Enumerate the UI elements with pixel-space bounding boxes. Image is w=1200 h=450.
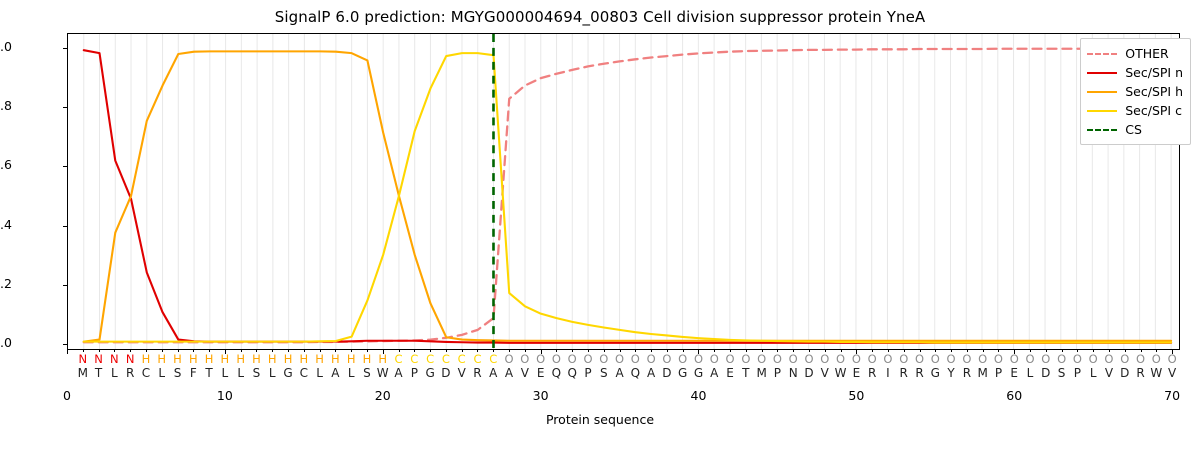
- sequence-residue: W: [375, 366, 391, 380]
- legend-label: OTHER: [1125, 46, 1168, 61]
- sequence-residue: G: [422, 366, 438, 380]
- region-annotation-C: C: [454, 352, 470, 366]
- sequence-residue: S: [248, 366, 264, 380]
- sequence-residue: Q: [627, 366, 643, 380]
- legend-item-cs[interactable]: CS: [1087, 120, 1183, 139]
- region-annotation-O: O: [1054, 352, 1070, 366]
- sequence-residue: V: [1101, 366, 1117, 380]
- region-annotation-O: O: [864, 352, 880, 366]
- region-annotation-C: C: [391, 352, 407, 366]
- sequence-residue: Q: [564, 366, 580, 380]
- sequence-residue: W: [833, 366, 849, 380]
- sequence-residue: A: [706, 366, 722, 380]
- x-tick-label: 0: [47, 388, 87, 403]
- sequence-residue: R: [469, 366, 485, 380]
- region-annotation-O: O: [548, 352, 564, 366]
- x-tick-label: 60: [994, 388, 1034, 403]
- region-annotation-O: O: [1133, 352, 1149, 366]
- region-annotation-O: O: [1117, 352, 1133, 366]
- y-tick-label: 0.2: [0, 276, 12, 291]
- region-annotation-O: O: [690, 352, 706, 366]
- sequence-residue: L: [343, 366, 359, 380]
- sequence-residue: D: [801, 366, 817, 380]
- sequence-residue: Y: [943, 366, 959, 380]
- region-annotation-O: O: [912, 352, 928, 366]
- plot-area: [67, 33, 1180, 350]
- sequence-residue: A: [485, 366, 501, 380]
- sequence-residue: L: [233, 366, 249, 380]
- legend-swatch-icon: [1087, 105, 1117, 117]
- sequence-residue: W: [1148, 366, 1164, 380]
- protein-sequence-row: MTLRCLSFTLLSLGCLALSWAPGDVRAAVEQQPSAQADGG…: [67, 366, 1180, 380]
- y-tick-label: 0.4: [0, 217, 12, 232]
- sequence-residue: A: [612, 366, 628, 380]
- region-annotation-O: O: [627, 352, 643, 366]
- sequence-residue: F: [185, 366, 201, 380]
- region-annotation-O: O: [769, 352, 785, 366]
- region-annotation-H: H: [312, 352, 328, 366]
- region-annotation-N: N: [106, 352, 122, 366]
- sequence-residue: S: [1054, 366, 1070, 380]
- series-line-sec-spi-h: [84, 51, 1171, 341]
- x-axis-label: Protein sequence: [0, 412, 1200, 427]
- x-tick-label: 30: [521, 388, 561, 403]
- sequence-residue: M: [75, 366, 91, 380]
- region-annotation-H: H: [154, 352, 170, 366]
- region-annotation-O: O: [990, 352, 1006, 366]
- x-tick-label: 50: [836, 388, 876, 403]
- sequence-residue: A: [391, 366, 407, 380]
- region-annotation-O: O: [612, 352, 628, 366]
- sequence-residue: N: [785, 366, 801, 380]
- legend-item-sec-spi-c[interactable]: Sec/SPI c: [1087, 101, 1183, 120]
- region-annotation-O: O: [533, 352, 549, 366]
- legend-label: Sec/SPI h: [1125, 84, 1183, 99]
- sequence-residue: E: [848, 366, 864, 380]
- sequence-residue: E: [722, 366, 738, 380]
- y-tick-label: 0.8: [0, 98, 12, 113]
- sequence-residue: G: [927, 366, 943, 380]
- sequence-residue: S: [596, 366, 612, 380]
- sequence-residue: T: [738, 366, 754, 380]
- sequence-residue: D: [1038, 366, 1054, 380]
- legend-swatch-icon: [1087, 48, 1117, 60]
- region-annotation-O: O: [643, 352, 659, 366]
- sequence-residue: C: [138, 366, 154, 380]
- region-annotation-O: O: [880, 352, 896, 366]
- sequence-residue: L: [1022, 366, 1038, 380]
- y-tick-label: 0.6: [0, 157, 12, 172]
- region-annotation-C: C: [422, 352, 438, 366]
- sequence-residue: L: [106, 366, 122, 380]
- sequence-residue: A: [643, 366, 659, 380]
- region-annotation-H: H: [138, 352, 154, 366]
- region-annotation-O: O: [1101, 352, 1117, 366]
- plot-svg: [68, 34, 1179, 349]
- region-annotation-H: H: [296, 352, 312, 366]
- legend-swatch-icon: [1087, 67, 1117, 79]
- region-annotation-O: O: [833, 352, 849, 366]
- chart-legend[interactable]: OTHERSec/SPI nSec/SPI hSec/SPI cCS: [1080, 38, 1191, 145]
- region-annotation-O: O: [1038, 352, 1054, 366]
- sequence-residue: P: [769, 366, 785, 380]
- sequence-residue: S: [170, 366, 186, 380]
- region-annotation-O: O: [848, 352, 864, 366]
- sequence-residue: P: [990, 366, 1006, 380]
- sequence-residue: A: [501, 366, 517, 380]
- region-annotation-O: O: [975, 352, 991, 366]
- y-tick-label: 1.0: [0, 39, 12, 54]
- region-annotation-O: O: [706, 352, 722, 366]
- sequence-residue: E: [533, 366, 549, 380]
- region-annotation-H: H: [248, 352, 264, 366]
- region-annotation-O: O: [1085, 352, 1101, 366]
- sequence-residue: P: [1069, 366, 1085, 380]
- legend-label: Sec/SPI n: [1125, 65, 1183, 80]
- region-annotation-N: N: [122, 352, 138, 366]
- legend-swatch-icon: [1087, 124, 1117, 136]
- region-annotation-O: O: [722, 352, 738, 366]
- sequence-residue: G: [690, 366, 706, 380]
- sequence-residue: R: [122, 366, 138, 380]
- sequence-residue: D: [438, 366, 454, 380]
- sequence-residue: R: [912, 366, 928, 380]
- region-annotation-O: O: [1148, 352, 1164, 366]
- region-annotation-O: O: [1022, 352, 1038, 366]
- sequence-residue: R: [959, 366, 975, 380]
- region-annotation-H: H: [327, 352, 343, 366]
- region-annotation-O: O: [580, 352, 596, 366]
- region-annotation-O: O: [738, 352, 754, 366]
- sequence-residue: V: [1164, 366, 1180, 380]
- region-annotation-H: H: [280, 352, 296, 366]
- region-annotation-H: H: [375, 352, 391, 366]
- region-annotation-O: O: [943, 352, 959, 366]
- region-annotation-O: O: [517, 352, 533, 366]
- region-annotation-H: H: [185, 352, 201, 366]
- region-annotation-O: O: [896, 352, 912, 366]
- sequence-residue: A: [327, 366, 343, 380]
- region-annotation-O: O: [1006, 352, 1022, 366]
- region-annotation-O: O: [564, 352, 580, 366]
- region-annotation-C: C: [406, 352, 422, 366]
- sequence-residue: M: [754, 366, 770, 380]
- sequence-residue: D: [659, 366, 675, 380]
- region-annotation-H: H: [201, 352, 217, 366]
- region-annotation-O: O: [801, 352, 817, 366]
- region-annotation-O: O: [1069, 352, 1085, 366]
- sequence-residue: L: [154, 366, 170, 380]
- region-annotation-H: H: [264, 352, 280, 366]
- series-line-other: [84, 49, 1171, 343]
- series-line-sec-spi-c: [84, 53, 1171, 342]
- region-annotation-H: H: [170, 352, 186, 366]
- x-tick-label: 10: [205, 388, 245, 403]
- region-annotation-H: H: [359, 352, 375, 366]
- sequence-residue: L: [1085, 366, 1101, 380]
- sequence-residue: L: [312, 366, 328, 380]
- region-annotation-C: C: [485, 352, 501, 366]
- region-annotation-N: N: [91, 352, 107, 366]
- sequence-residue: V: [454, 366, 470, 380]
- x-tick-label: 70: [1152, 388, 1192, 403]
- region-annotation-O: O: [959, 352, 975, 366]
- region-annotation-O: O: [596, 352, 612, 366]
- sequence-residue: G: [675, 366, 691, 380]
- sequence-residue: P: [406, 366, 422, 380]
- sequence-residue: Q: [548, 366, 564, 380]
- sequence-residue: M: [975, 366, 991, 380]
- sequence-residue: V: [817, 366, 833, 380]
- sequence-residue: R: [864, 366, 880, 380]
- legend-item-sec-spi-n[interactable]: Sec/SPI n: [1087, 63, 1183, 82]
- sequence-residue: E: [1006, 366, 1022, 380]
- region-annotation-row: NNNNHHHHHHHHHHHHHHHHCCCCCCCOOOOOOOOOOOOO…: [67, 352, 1180, 366]
- sequence-residue: L: [264, 366, 280, 380]
- region-annotation-O: O: [501, 352, 517, 366]
- legend-item-other[interactable]: OTHER: [1087, 44, 1183, 63]
- sequence-residue: D: [1117, 366, 1133, 380]
- signalp-prediction-figure: SignalP 6.0 prediction: MGYG000004694_00…: [0, 0, 1200, 450]
- region-annotation-H: H: [343, 352, 359, 366]
- sequence-residue: V: [517, 366, 533, 380]
- region-annotation-O: O: [817, 352, 833, 366]
- chart-title: SignalP 6.0 prediction: MGYG000004694_00…: [0, 8, 1200, 26]
- sequence-residue: C: [296, 366, 312, 380]
- region-annotation-O: O: [785, 352, 801, 366]
- region-annotation-H: H: [233, 352, 249, 366]
- region-annotation-C: C: [469, 352, 485, 366]
- sequence-residue: L: [217, 366, 233, 380]
- x-tick-label: 40: [678, 388, 718, 403]
- sequence-residue: S: [359, 366, 375, 380]
- sequence-residue: R: [896, 366, 912, 380]
- sequence-residue: G: [280, 366, 296, 380]
- region-annotation-C: C: [438, 352, 454, 366]
- sequence-residue: R: [1133, 366, 1149, 380]
- region-annotation-O: O: [927, 352, 943, 366]
- region-annotation-H: H: [217, 352, 233, 366]
- region-annotation-O: O: [754, 352, 770, 366]
- sequence-residue: T: [201, 366, 217, 380]
- y-tick-label: 0.0: [0, 335, 12, 350]
- sequence-residue: T: [91, 366, 107, 380]
- sequence-residue: I: [880, 366, 896, 380]
- x-tick-label: 20: [363, 388, 403, 403]
- region-annotation-O: O: [1164, 352, 1180, 366]
- legend-swatch-icon: [1087, 86, 1117, 98]
- legend-label: Sec/SPI c: [1125, 103, 1182, 118]
- region-annotation-O: O: [659, 352, 675, 366]
- legend-label: CS: [1125, 122, 1142, 137]
- region-annotation-O: O: [675, 352, 691, 366]
- legend-item-sec-spi-h[interactable]: Sec/SPI h: [1087, 82, 1183, 101]
- region-annotation-N: N: [75, 352, 91, 366]
- series-line-sec-spi-n: [84, 50, 1171, 343]
- sequence-residue: P: [580, 366, 596, 380]
